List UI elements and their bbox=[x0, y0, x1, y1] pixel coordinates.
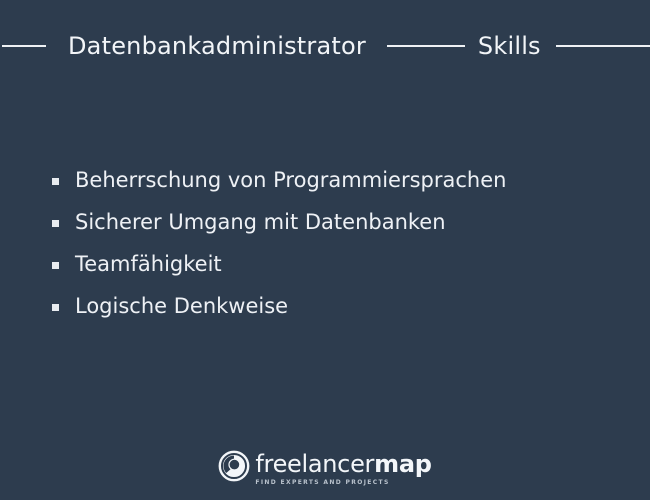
slide-canvas: Datenbankadministrator Skills Beherrschu… bbox=[0, 0, 650, 500]
logo-tagline: FIND EXPERTS AND PROJECTS bbox=[255, 479, 431, 486]
list-item: Teamfähigkeit bbox=[52, 250, 612, 292]
list-item-label: Sicherer Umgang mit Datenbanken bbox=[75, 208, 446, 236]
logo-lockup: freelancermap FIND EXPERTS AND PROJECTS bbox=[218, 448, 431, 486]
page-title: Datenbankadministrator bbox=[68, 34, 366, 58]
list-item-label: Logische Denkweise bbox=[75, 292, 288, 320]
header-rule-right bbox=[556, 45, 650, 47]
list-item: Logische Denkweise bbox=[52, 292, 612, 334]
skills-list: Beherrschung von Programmiersprachen Sic… bbox=[52, 166, 612, 334]
header-rule-middle bbox=[387, 45, 465, 47]
freelancermap-aperture-icon bbox=[218, 450, 250, 482]
list-item-label: Teamfähigkeit bbox=[75, 250, 222, 278]
square-bullet-icon bbox=[52, 220, 59, 227]
square-bullet-icon bbox=[52, 178, 59, 185]
section-title: Skills bbox=[478, 34, 541, 58]
logo-word-map: map bbox=[374, 450, 431, 478]
logo-wordmark: freelancermap bbox=[255, 452, 431, 476]
footer-logo: freelancermap FIND EXPERTS AND PROJECTS bbox=[0, 448, 650, 486]
square-bullet-icon bbox=[52, 304, 59, 311]
slide-header: Datenbankadministrator Skills bbox=[0, 26, 650, 66]
logo-word-freelancer: freelancer bbox=[255, 450, 374, 478]
list-item: Sicherer Umgang mit Datenbanken bbox=[52, 208, 612, 250]
logo-text-block: freelancermap FIND EXPERTS AND PROJECTS bbox=[255, 448, 431, 486]
list-item: Beherrschung von Programmiersprachen bbox=[52, 166, 612, 208]
square-bullet-icon bbox=[52, 262, 59, 269]
header-rule-left bbox=[2, 45, 46, 47]
list-item-label: Beherrschung von Programmiersprachen bbox=[75, 166, 506, 194]
